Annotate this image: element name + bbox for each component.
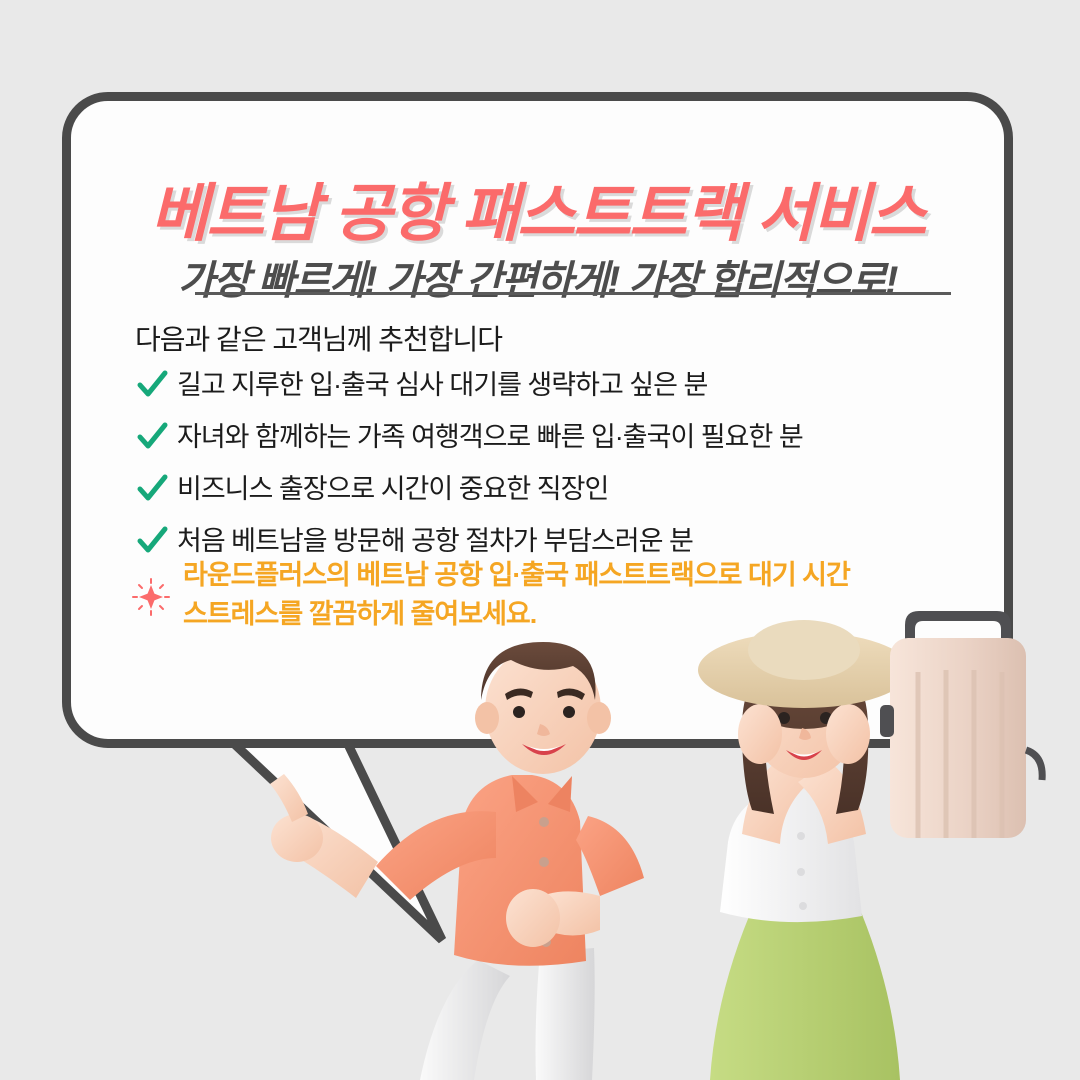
check-icon: [135, 420, 169, 454]
illustration-group: [0, 600, 1080, 1080]
list-item: 자녀와 함께하는 가족 여행객으로 빠른 입·출국이 필요한 분: [135, 420, 803, 464]
man-right-ear: [587, 702, 611, 734]
check-icon: [135, 472, 169, 506]
page-subtitle: 가장 빠르게! 가장 간편하게! 가장 합리적으로!: [62, 248, 1013, 306]
suitcase-strap: [1026, 750, 1042, 780]
list-item-label: 자녀와 함께하는 가족 여행객으로 빠른 입·출국이 필요한 분: [169, 420, 803, 454]
man-pointing-finger: [270, 774, 308, 822]
poster-canvas: 베트남 공항 패스트트랙 서비스 가장 빠르게! 가장 간편하게! 가장 합리적…: [0, 0, 1080, 1080]
man-right-leg: [536, 948, 595, 1080]
man-left-eye: [513, 706, 525, 718]
check-icon: [135, 368, 169, 402]
woman-left-hand: [738, 704, 782, 764]
man-left-fist: [271, 814, 323, 862]
subtitle-underline: [195, 292, 951, 295]
callout-line-2: 스트레스를 깔끔하게 줄여보세요.: [183, 595, 850, 634]
lead-text: 다음과 같은 고객님께 추천합니다: [135, 318, 502, 358]
check-icon: [135, 524, 169, 558]
man-pointing-character: [270, 642, 644, 1080]
suitcase-body: [890, 638, 1026, 838]
sparkle-star-icon: [131, 560, 171, 634]
subtitle-block: 가장 빠르게! 가장 간편하게! 가장 합리적으로!: [62, 248, 1013, 300]
benefit-list: 길고 지루한 입·출국 심사 대기를 생략하고 싶은 분 자녀와 함께하는 가족…: [135, 368, 803, 576]
man-left-leg: [420, 960, 510, 1080]
title-block: 베트남 공항 패스트트랙 서비스: [62, 163, 1013, 237]
man-right-eye: [563, 706, 575, 718]
list-item: 비즈니스 출장으로 시간이 중요한 직장인: [135, 472, 803, 516]
callout-block: 라운드플러스의 베트남 공항 입·출국 패스트트랙으로 대기 시간 스트레스를 …: [131, 556, 850, 634]
callout-line-1: 라운드플러스의 베트남 공항 입·출국 패스트트랙으로 대기 시간: [183, 556, 850, 595]
page-title: 베트남 공항 패스트트랙 서비스: [62, 163, 1013, 254]
callout-text: 라운드플러스의 베트남 공항 입·출국 패스트트랙으로 대기 시간 스트레스를 …: [171, 556, 850, 634]
woman-hands-on-cheeks-character: [698, 620, 910, 1080]
man-right-fist: [506, 889, 560, 947]
woman-skirt: [710, 900, 900, 1080]
man-right-sleeve: [576, 816, 644, 896]
woman-right-hand: [826, 704, 870, 764]
rolling-suitcase: [880, 611, 1042, 838]
list-item-label: 비즈니스 출장으로 시간이 중요한 직장인: [169, 472, 608, 506]
list-item-label: 길고 지루한 입·출국 심사 대기를 생략하고 싶은 분: [169, 368, 707, 402]
man-left-ear: [475, 702, 499, 734]
suitcase-side-grip: [880, 705, 894, 737]
list-item-label: 처음 베트남을 방문해 공항 절차가 부담스러운 분: [169, 524, 693, 558]
list-item: 길고 지루한 입·출국 심사 대기를 생략하고 싶은 분: [135, 368, 803, 412]
suitcase-handle: [905, 611, 1011, 641]
